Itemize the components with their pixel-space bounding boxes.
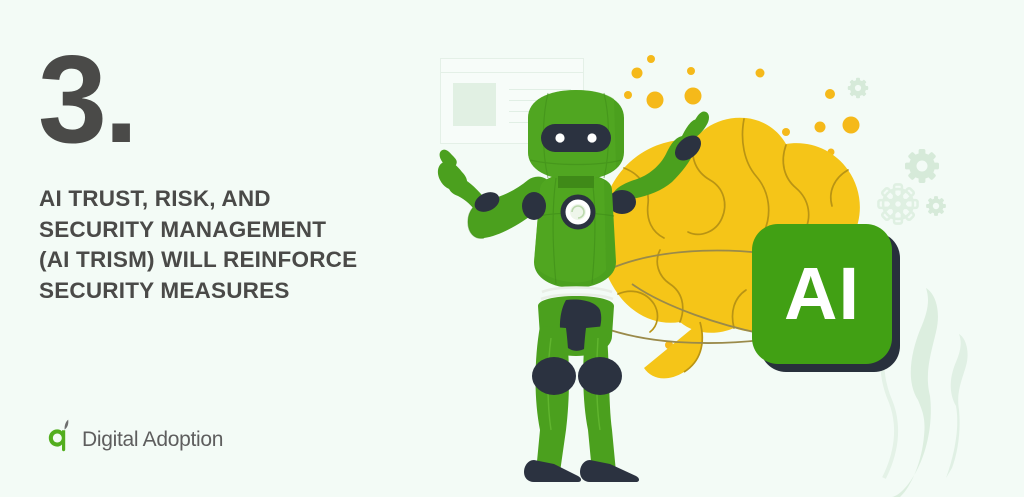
page-title: AI TRUST, RISK, AND SECURITY MANAGEMENT … xyxy=(39,184,399,306)
digital-adoption-logo-icon xyxy=(48,419,76,453)
brand-name: Digital Adoption xyxy=(82,422,223,450)
slide-canvas: AI 3. AI TRUST, RISK, AND SECURITY MANAG… xyxy=(0,0,1024,497)
robot-eye-right xyxy=(587,133,596,142)
brand-logo[interactable]: Digital Adoption xyxy=(48,419,223,453)
gear-icon xyxy=(905,149,939,183)
ai-badge: AI xyxy=(752,224,892,364)
gear-icon xyxy=(926,196,946,216)
robot-eye-left xyxy=(555,133,564,142)
ai-badge-label: AI xyxy=(784,257,860,331)
slide-number: 3. xyxy=(38,38,135,162)
robot-knee-left xyxy=(532,357,576,395)
robot-knee-right xyxy=(578,357,622,395)
gear-outline-icon xyxy=(878,184,917,223)
gear-icon xyxy=(848,78,868,98)
